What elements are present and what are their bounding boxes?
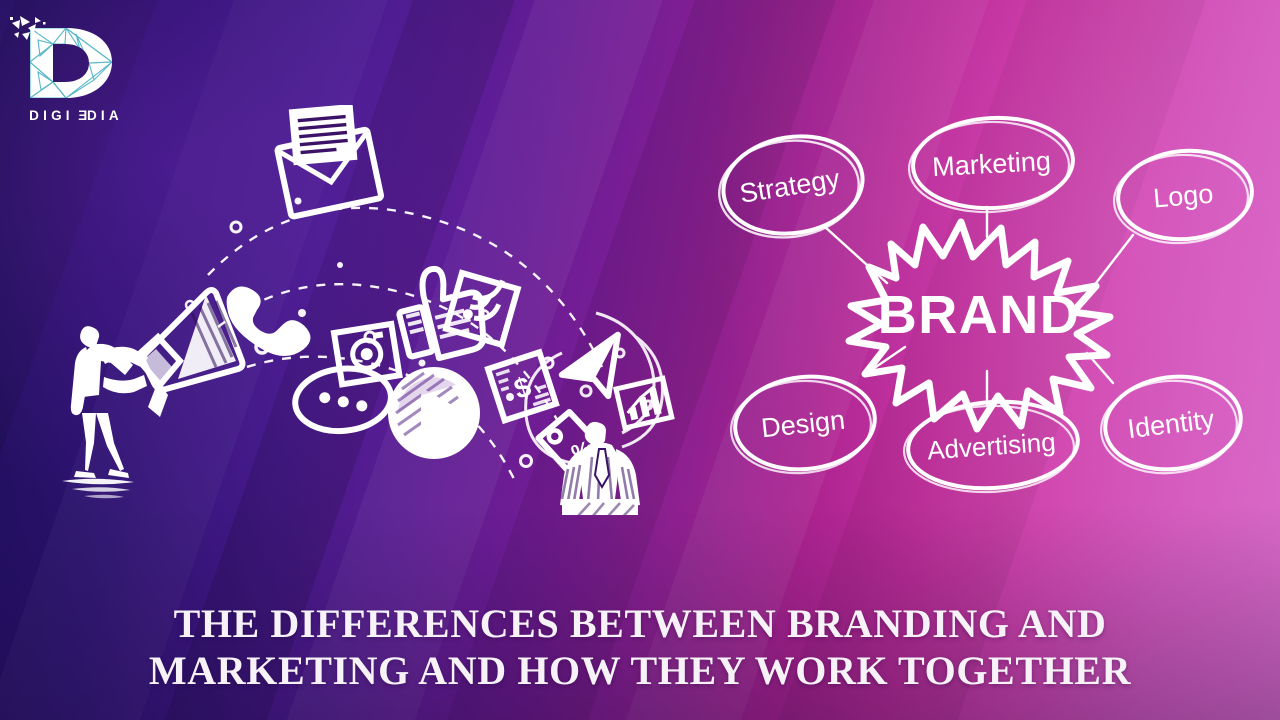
node-label-identity: Identity <box>1126 404 1217 444</box>
phone-handset-icon <box>221 270 314 370</box>
mindmap-center-label: BRAND <box>878 285 1081 345</box>
title-line-2: MARKETING AND HOW THEY WORK TOGETHER <box>40 648 1240 694</box>
brand-logo[interactable]: DIGIEDIA <box>8 10 138 135</box>
node-label-marketing: Marketing <box>932 146 1052 182</box>
megaphone-broadcast-illustration: $ % <box>40 105 700 515</box>
node-label-strategy: Strategy <box>738 163 843 208</box>
title-line-1: THE DIFFERENCES BETWEEN BRANDING AND <box>40 601 1240 647</box>
mindmap-node-advertising[interactable]: Advertising <box>903 396 1081 495</box>
polygonal-d-logo-icon <box>8 10 138 110</box>
node-label-advertising: Advertising <box>926 427 1056 466</box>
mindmap-node-strategy[interactable]: Strategy <box>715 127 870 246</box>
glow-right <box>704 0 1280 648</box>
brand-mind-map: BRAND Strategy Marketing Logo Design <box>715 115 1260 505</box>
chat-bubble-icon <box>292 364 394 436</box>
mindmap-node-identity[interactable]: Identity <box>1097 369 1246 479</box>
bar-chart-icon <box>616 378 672 428</box>
svg-text:$: $ <box>510 370 535 404</box>
banner-root: DIGIEDIA <box>0 0 1280 720</box>
person-with-laptop <box>545 422 658 515</box>
mindmap-connectors <box>825 207 1133 405</box>
dollar-icon: $ <box>488 352 556 420</box>
discount-tag-icon: % <box>534 404 614 488</box>
mindmap-node-design[interactable]: Design <box>728 370 879 478</box>
brand-starburst: BRAND <box>849 222 1110 429</box>
node-label-design: Design <box>760 405 847 444</box>
arc-dots <box>186 198 553 467</box>
svg-text:%: % <box>568 436 595 466</box>
broadcast-arc-dashed <box>208 208 602 483</box>
page-title: THE DIFFERENCES BETWEEN BRANDING AND MAR… <box>0 601 1280 694</box>
idea-swirls <box>526 313 663 463</box>
node-label-logo: Logo <box>1152 178 1214 213</box>
envelope-icon <box>270 105 382 217</box>
play-button-icon <box>388 367 480 459</box>
mindmap-node-marketing[interactable]: Marketing <box>907 115 1075 215</box>
camera-icon <box>334 324 399 384</box>
mindmap-node-logo[interactable]: Logo <box>1112 145 1256 246</box>
thumbs-up-icon <box>391 260 492 365</box>
logo-wordmark: DIGIEDIA <box>16 108 136 123</box>
person-with-megaphone <box>62 290 243 498</box>
paper-plane-icon <box>558 335 624 401</box>
wifi-signal-icon <box>446 269 519 345</box>
